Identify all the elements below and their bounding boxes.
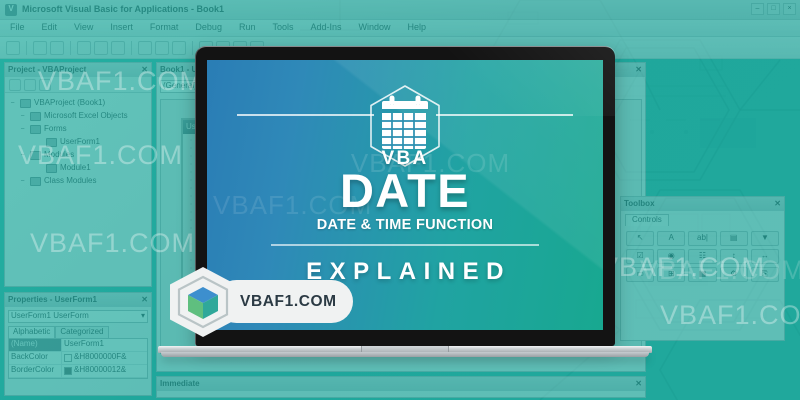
tree-node-label: Microsoft Excel Objects	[44, 112, 128, 121]
close-icon[interactable]: ✕	[141, 296, 148, 305]
tree-node-label: Module1	[60, 164, 91, 173]
menu-item-format[interactable]: Format	[150, 23, 179, 33]
menu-item-edit[interactable]: Edit	[42, 23, 58, 33]
immediate-window[interactable]: Immediate ✕	[156, 376, 646, 398]
toolbar-separator	[26, 41, 27, 55]
toolbar-icon-excel[interactable]	[6, 41, 20, 55]
color-swatch-icon	[64, 354, 72, 362]
tree-node-excel-objects[interactable]: − Microsoft Excel Objects	[8, 110, 148, 123]
project-explorer-toolbar[interactable]	[5, 77, 151, 93]
menu-item-run[interactable]: Run	[239, 23, 256, 33]
vba-menu-bar[interactable]: File Edit View Insert Format Debug Run T…	[0, 20, 800, 37]
toolbox-tab-controls[interactable]: Controls	[625, 214, 669, 226]
menu-item-view[interactable]: View	[74, 23, 93, 33]
toolbar-icon-save[interactable]	[50, 41, 64, 55]
maximize-icon[interactable]: □	[767, 3, 780, 15]
toolbox-header: Toolbox ✕	[621, 197, 784, 211]
folder-icon	[30, 125, 41, 134]
toolbar-separator	[131, 41, 132, 55]
tool-select-icon[interactable]: ↖	[626, 231, 654, 246]
tree-node-label: UserForm1	[60, 138, 100, 147]
subheading: DATE & TIME FUNCTION	[207, 217, 603, 233]
project-explorer-header: Project - VBAProject ✕	[5, 63, 151, 77]
tree-node-userform1[interactable]: UserForm1	[8, 136, 148, 149]
view-object-icon[interactable]	[24, 79, 36, 91]
menu-item-debug[interactable]: Debug	[195, 23, 222, 33]
object-combo-value: (General)	[163, 82, 197, 91]
property-name: BackColor	[9, 352, 61, 364]
toolbar-separator	[70, 41, 71, 55]
close-icon[interactable]: ✕	[141, 66, 148, 75]
toolbar-icon-copy[interactable]	[94, 41, 108, 55]
toolbar-icon-pause[interactable]	[155, 41, 169, 55]
twisty-icon[interactable]: −	[18, 126, 27, 134]
tab-categorized[interactable]: Categorized	[55, 326, 108, 338]
menu-item-tools[interactable]: Tools	[272, 23, 293, 33]
tool-textbox-icon[interactable]: ab|	[688, 231, 716, 246]
toolbox-control-grid[interactable]: ↖ A ab| ▤ ▼ ☑ ◉ ☷ ↕ ↔ ▭ ⊞ ▦ ⚙ ⎘	[621, 226, 784, 287]
property-value[interactable]: UserForm1	[61, 339, 147, 351]
cube-logo-icon[interactable]	[168, 266, 264, 338]
twisty-icon[interactable]: −	[8, 100, 17, 108]
laptop-base-bottom	[161, 352, 649, 357]
property-value-text: &H8000000F&	[74, 353, 126, 362]
twisty-icon[interactable]: −	[18, 178, 27, 186]
menu-item-insert[interactable]: Insert	[110, 23, 133, 33]
page-title: DATE	[207, 168, 603, 214]
tool-combobox-icon[interactable]: ▤	[720, 231, 748, 246]
tab-alphabetic[interactable]: Alphabetic	[8, 326, 55, 338]
tool-multipage-icon[interactable]: ⊞	[657, 267, 685, 282]
close-icon[interactable]: ✕	[635, 380, 642, 389]
property-name: BorderColor	[9, 365, 61, 377]
project-explorer-title: Project - VBAProject	[8, 66, 86, 75]
property-row[interactable]: (Name) UserForm1	[9, 339, 147, 352]
module-icon	[46, 164, 57, 173]
tool-frame-icon[interactable]: ↕	[720, 249, 748, 264]
toolbox-panel[interactable]: Toolbox ✕ Controls ↖ A ab| ▤ ▼ ☑ ◉ ☷ ↕ ↔…	[620, 196, 785, 341]
menu-item-help[interactable]: Help	[408, 23, 427, 33]
toolbar-icon-cut[interactable]	[77, 41, 91, 55]
tree-node-class-modules[interactable]: − Class Modules	[8, 175, 148, 188]
properties-panel[interactable]: Properties - UserForm1 ✕ UserForm1 UserF…	[4, 292, 152, 396]
divider-right	[436, 114, 573, 116]
vba-app-icon: V	[5, 4, 17, 16]
tree-node-label: Modules	[44, 151, 74, 160]
properties-panel-header: Properties - UserForm1 ✕	[5, 293, 151, 307]
tool-commandbutton-icon[interactable]: ↔	[751, 249, 779, 264]
toggle-folders-icon[interactable]	[39, 79, 51, 91]
folder-icon	[30, 151, 41, 160]
tool-listbox-icon[interactable]: ▼	[751, 231, 779, 246]
divider-left	[237, 114, 374, 116]
property-name: (Name)	[9, 339, 61, 351]
toolbar-icon-run[interactable]	[138, 41, 152, 55]
tool-scrollbar-icon[interactable]: ▦	[688, 267, 716, 282]
minimize-icon[interactable]: –	[751, 3, 764, 15]
site-logo-badge[interactable]: VBAF1.COM	[168, 266, 353, 338]
divider-under-subhead	[271, 244, 539, 246]
properties-object-selector[interactable]: UserForm1 UserForm ▾	[8, 310, 148, 323]
tree-node-forms[interactable]: − Forms	[8, 123, 148, 136]
chevron-down-icon[interactable]: ▾	[141, 312, 145, 321]
close-icon[interactable]: ✕	[635, 66, 642, 75]
tool-togglebutton-icon[interactable]: ☷	[688, 249, 716, 264]
userform-icon	[46, 138, 57, 147]
property-row[interactable]: BackColor &H8000000F&	[9, 352, 147, 365]
properties-panel-title: Properties - UserForm1	[8, 296, 97, 305]
screen-text-block: VBA DATE DATE & TIME FUNCTION EXPLAINED	[207, 148, 603, 286]
properties-grid[interactable]: (Name) UserForm1 BackColor &H8000000F& B…	[8, 338, 148, 379]
project-icon	[20, 99, 31, 108]
screenshot-canvas: V Microsoft Visual Basic for Application…	[0, 0, 800, 400]
color-swatch-icon	[64, 367, 72, 375]
vba-window-title: Microsoft Visual Basic for Applications …	[22, 5, 224, 15]
toolbox-title: Toolbox	[624, 200, 655, 209]
laptop-base	[158, 346, 652, 358]
toolbar-separator	[192, 41, 193, 55]
tree-node-module1[interactable]: Module1	[8, 162, 148, 175]
tool-image-icon[interactable]: ⎘	[751, 267, 779, 282]
property-value[interactable]: &H8000000F&	[61, 352, 147, 364]
property-value-text: &H80000012&	[74, 366, 126, 375]
twisty-icon[interactable]: −	[18, 152, 27, 160]
project-tree[interactable]: − VBAProject (Book1) − Microsoft Excel O…	[5, 93, 151, 192]
tool-checkbox-icon[interactable]: ☑	[626, 249, 654, 264]
view-code-icon[interactable]	[9, 79, 21, 91]
menu-item-addins[interactable]: Add-Ins	[310, 23, 341, 33]
tree-node-modules[interactable]: − Modules	[8, 149, 148, 162]
toolbar-icon-insert[interactable]	[33, 41, 47, 55]
toolbar-icon-paste[interactable]	[111, 41, 125, 55]
property-value[interactable]: &H80000012&	[61, 365, 147, 377]
folder-icon	[30, 112, 41, 121]
properties-tabs[interactable]: Alphabetic Categorized	[8, 326, 148, 338]
tool-tabstrip-icon[interactable]: ▭	[626, 267, 654, 282]
tree-node-label: Forms	[44, 125, 67, 134]
immediate-window-header: Immediate ✕	[157, 377, 645, 391]
window-controls[interactable]: – □ ×	[751, 3, 796, 15]
menu-item-window[interactable]: Window	[359, 23, 391, 33]
tool-label-icon[interactable]: A	[657, 231, 685, 246]
vba-title-bar: V Microsoft Visual Basic for Application…	[0, 0, 800, 20]
twisty-icon[interactable]: −	[18, 113, 27, 121]
folder-icon	[30, 177, 41, 186]
tree-node-vbaproject[interactable]: − VBAProject (Book1)	[8, 97, 148, 110]
properties-object-value: UserForm1 UserForm	[11, 312, 89, 321]
tree-node-label: VBAProject (Book1)	[34, 99, 105, 108]
tree-node-label: Class Modules	[44, 177, 96, 186]
toolbar-icon-stop[interactable]	[172, 41, 186, 55]
close-icon[interactable]: ×	[783, 3, 796, 15]
menu-item-file[interactable]: File	[10, 23, 25, 33]
tool-optionbutton-icon[interactable]: ◉	[657, 249, 685, 264]
property-row[interactable]: BorderColor &H80000012&	[9, 365, 147, 378]
tool-spinbutton-icon[interactable]: ⚙	[720, 267, 748, 282]
close-icon[interactable]: ✕	[774, 200, 781, 209]
immediate-window-title: Immediate	[160, 380, 200, 389]
project-explorer-panel[interactable]: Project - VBAProject ✕ − VBAProject (Boo…	[4, 62, 152, 287]
